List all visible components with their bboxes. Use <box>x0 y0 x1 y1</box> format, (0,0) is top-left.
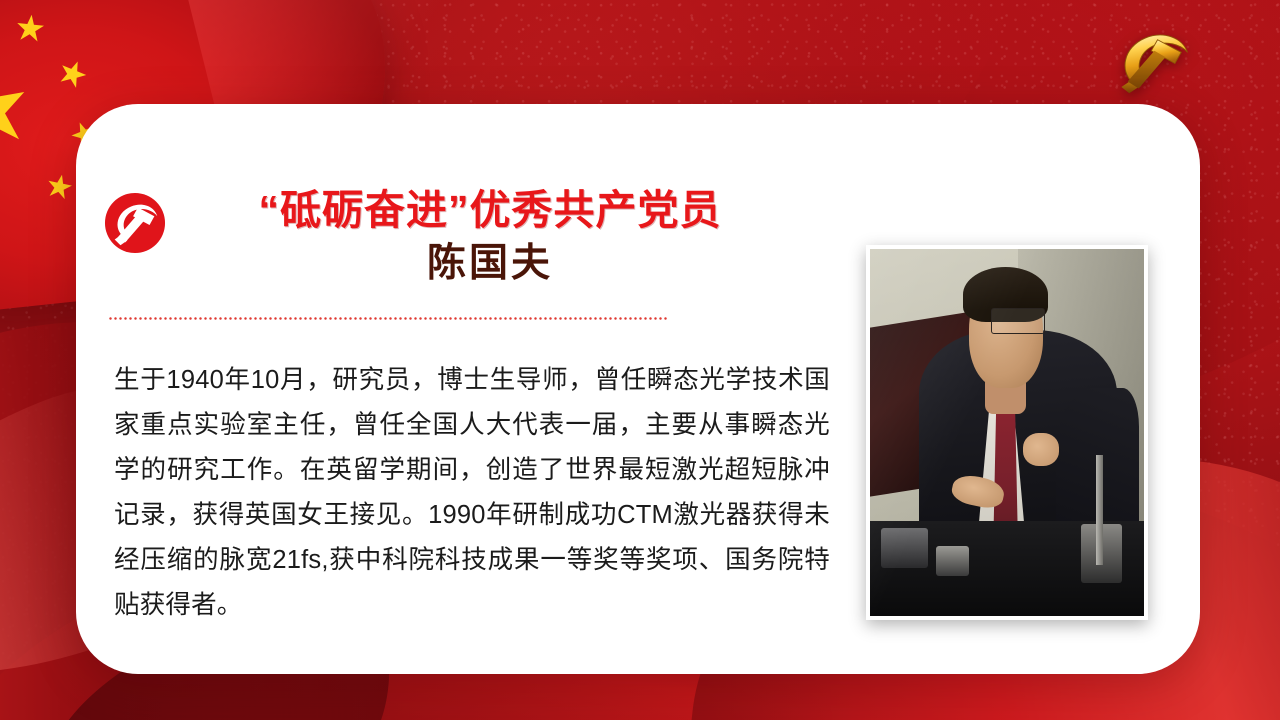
flag-star-large <box>0 65 35 155</box>
photo-glare <box>870 249 1144 616</box>
dotted-divider <box>108 317 668 320</box>
gold-hammer-sickle-emblem <box>1108 24 1204 98</box>
portrait-photo <box>870 249 1144 616</box>
portrait-photo-frame <box>866 245 1148 620</box>
person-name: 陈国夫 <box>188 242 792 287</box>
flag-star-small-1 <box>15 13 46 44</box>
party-emblem-icon <box>104 192 166 254</box>
biography-text: 生于1940年10月，研究员，博士生导师，曾任瞬态光学技术国家重点实验室主任，曾… <box>114 358 830 628</box>
flag-star-small-4 <box>45 172 75 202</box>
content-card: “砥砺奋进”优秀共产党员 陈国夫 生于1940年10月，研究员，博士生导师，曾任… <box>76 104 1200 674</box>
slide-root: “砥砺奋进”优秀共产党员 陈国夫 生于1940年10月，研究员，博士生导师，曾任… <box>0 0 1280 720</box>
card-header: “砥砺奋进”优秀共产党员 陈国夫 <box>104 186 804 287</box>
flag-star-small-2 <box>55 56 90 91</box>
title-block: “砥砺奋进”优秀共产党员 陈国夫 <box>188 186 804 287</box>
page-title: “砥砺奋进”优秀共产党员 <box>188 186 792 234</box>
